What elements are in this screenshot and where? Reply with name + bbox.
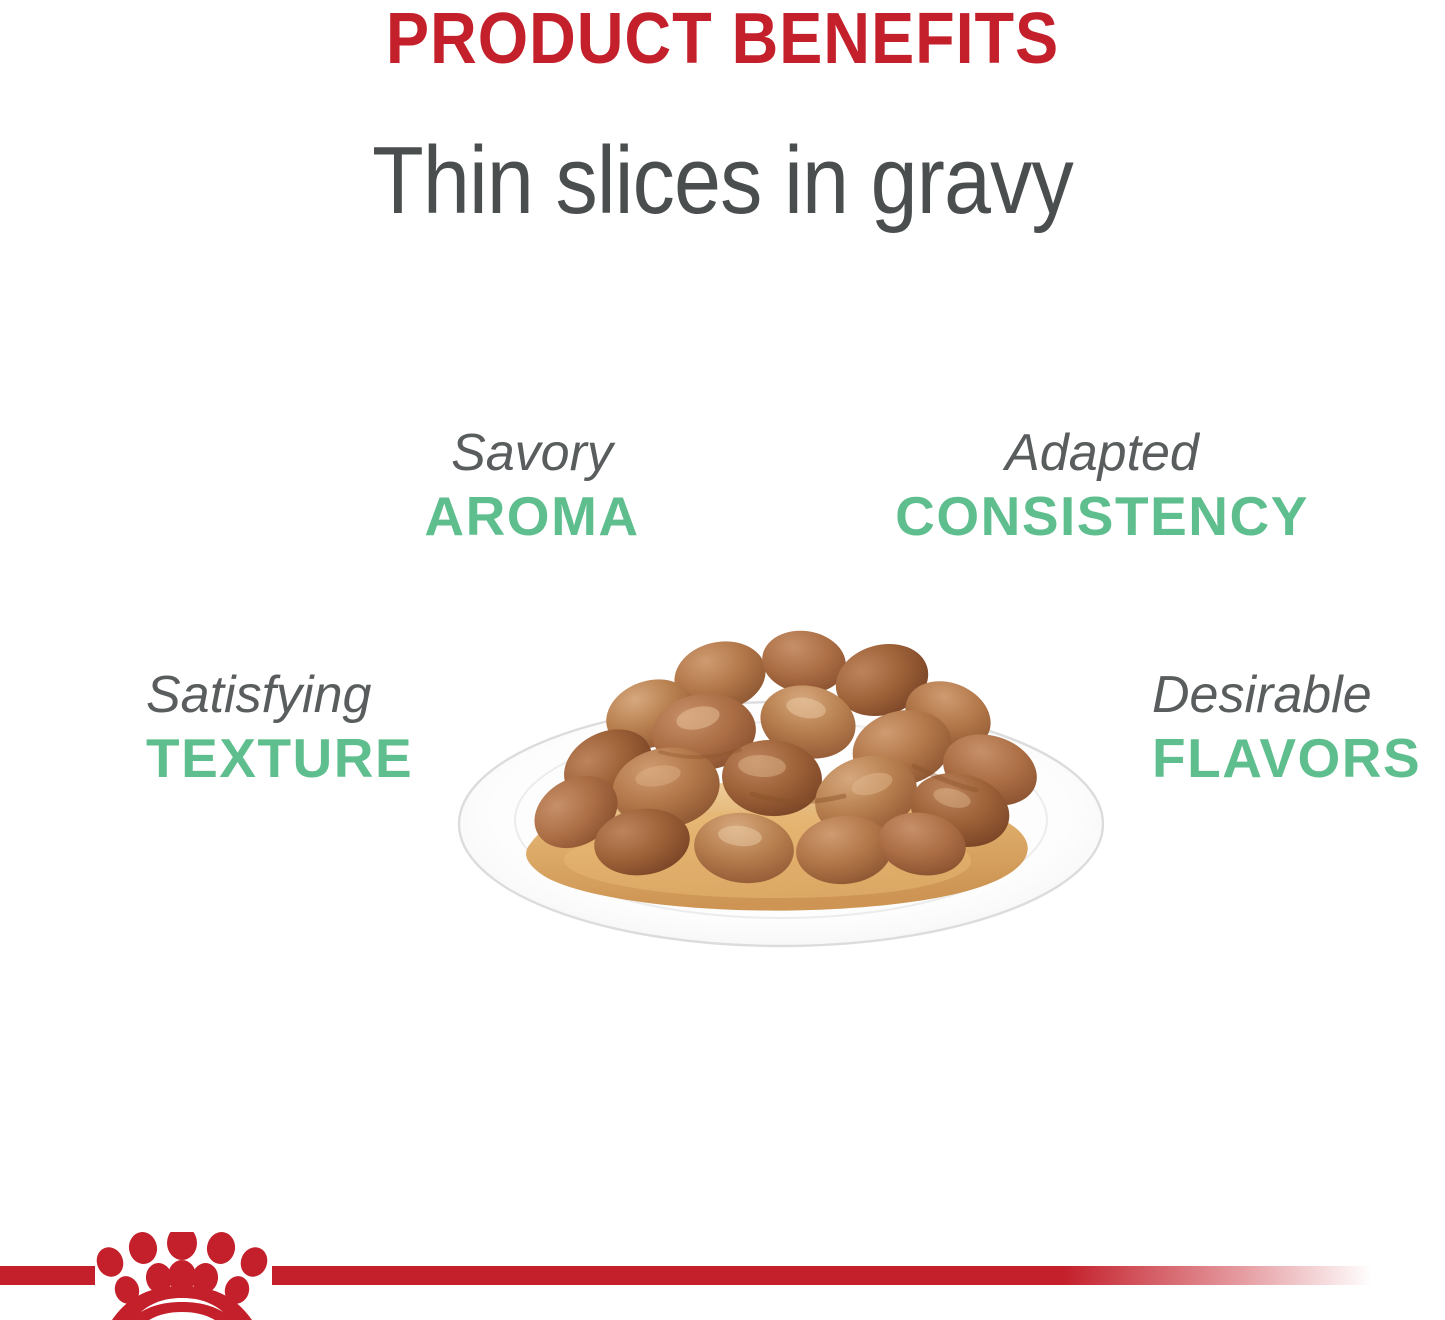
- benefit-aroma-adjective: Savory: [292, 422, 772, 484]
- brand-rule-right: [272, 1266, 1372, 1285]
- benefit-texture-adjective: Satisfying: [146, 664, 438, 726]
- benefit-consistency-noun: CONSISTENCY: [862, 484, 1342, 548]
- benefit-flavors-adjective: Desirable: [1152, 664, 1445, 726]
- benefit-aroma-noun: AROMA: [292, 484, 772, 548]
- benefit-aroma: Savory AROMA: [292, 422, 772, 548]
- benefit-consistency-adjective: Adapted: [862, 422, 1342, 484]
- page-title: PRODUCT BENEFITS: [72, 0, 1373, 82]
- benefit-texture: Satisfying TEXTURE: [146, 664, 438, 790]
- footer-brand-bar: [0, 1232, 1445, 1320]
- benefit-consistency: Adapted CONSISTENCY: [862, 422, 1342, 548]
- benefit-flavors: Desirable FLAVORS: [1152, 664, 1445, 790]
- product-food-image: [452, 598, 1110, 960]
- benefit-texture-noun: TEXTURE: [146, 726, 438, 790]
- product-benefits-panel: PRODUCT BENEFITS Thin slices in gravy Sa…: [0, 0, 1445, 1320]
- page-subtitle: Thin slices in gravy: [87, 126, 1359, 236]
- benefit-flavors-noun: FLAVORS: [1152, 726, 1445, 790]
- brand-rule-left: [0, 1266, 95, 1285]
- royal-canin-crown-logo: [92, 1232, 271, 1320]
